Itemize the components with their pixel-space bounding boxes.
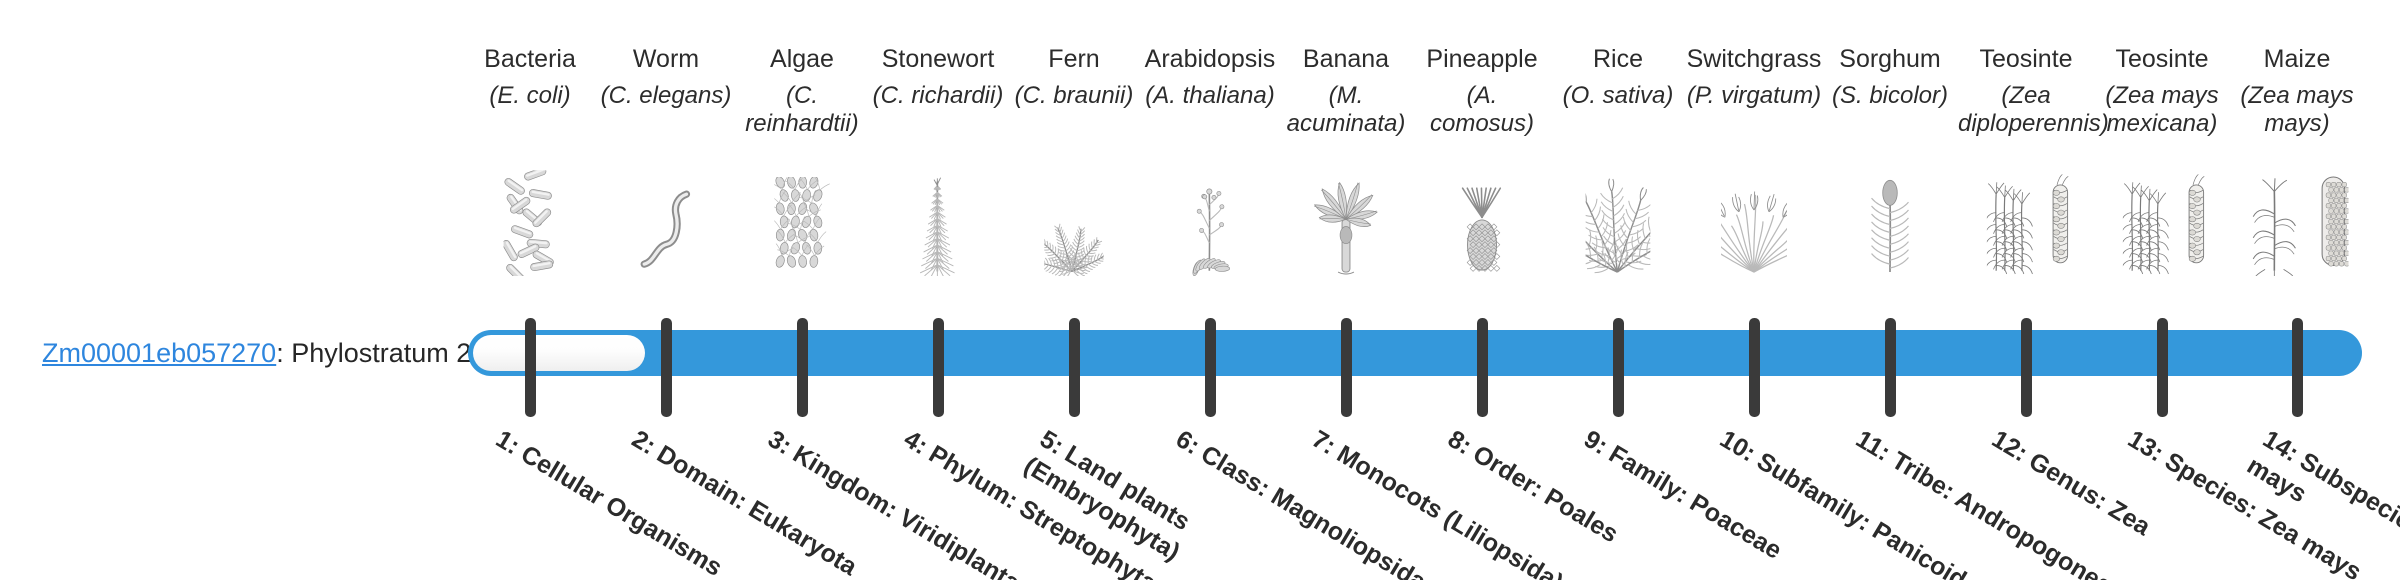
phylostratum-tick-12[interactable]	[2021, 318, 2032, 417]
phylostratum-tick-4[interactable]	[933, 318, 944, 417]
phylostratum-bar-track[interactable]	[468, 330, 2362, 376]
phylostratum-tick-13[interactable]	[2157, 318, 2168, 417]
phylostratum-tick-6[interactable]	[1205, 318, 1216, 417]
phylostratum-bar-area: 1: Cellular Organisms2: Domain: Eukaryot…	[0, 0, 2400, 580]
phylostratum-tick-3[interactable]	[797, 318, 808, 417]
phylostratum-timeline: Zm00001eb057270: Phylostratum 2 Bacteria…	[0, 0, 2400, 580]
phylostratum-tick-5[interactable]	[1069, 318, 1080, 417]
phylostratum-tick-8[interactable]	[1477, 318, 1488, 417]
phylostratum-tick-2[interactable]	[661, 318, 672, 417]
phylostratum-tick-1[interactable]	[525, 318, 536, 417]
phylostratum-tick-7[interactable]	[1341, 318, 1352, 417]
phylostratum-tick-10[interactable]	[1749, 318, 1760, 417]
phylostratum-tick-9[interactable]	[1613, 318, 1624, 417]
phylostratum-bar-unfilled-segment	[473, 335, 645, 371]
phylostratum-tick-14[interactable]	[2292, 318, 2303, 417]
phylostratum-tick-11[interactable]	[1885, 318, 1896, 417]
